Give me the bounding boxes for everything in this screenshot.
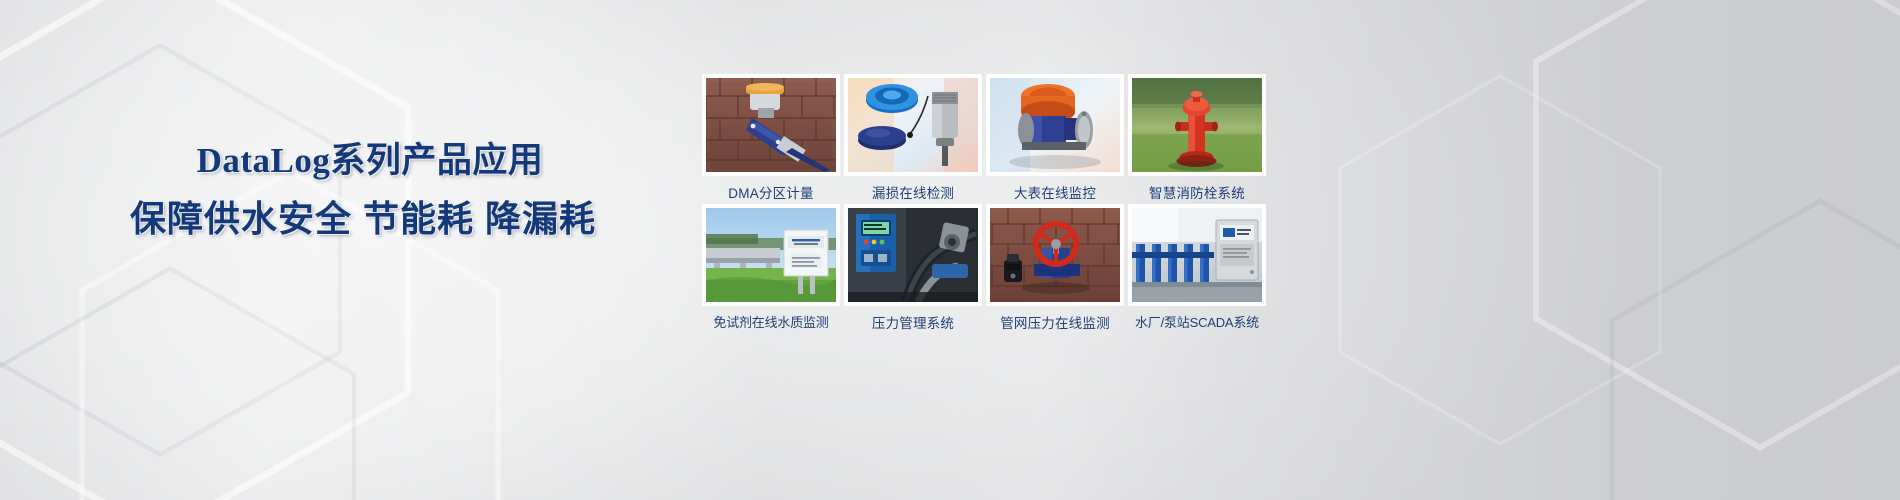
product-caption: 压力管理系统 xyxy=(845,312,981,332)
product-thumbnail[interactable] xyxy=(987,75,1123,175)
product-application-banner: DataLog系列产品应用 保障供水安全 节能耗 降漏耗 xyxy=(0,0,1900,500)
product-caption: 大表在线监控 xyxy=(987,182,1123,202)
product-thumbnail[interactable] xyxy=(845,205,981,305)
pipe-pressure-valve-photo xyxy=(990,208,1120,302)
product-card[interactable]: DMA分区计量 xyxy=(703,75,839,202)
product-thumbnail[interactable] xyxy=(1129,75,1265,175)
product-thumbnail[interactable] xyxy=(845,75,981,175)
product-thumbnail[interactable] xyxy=(1129,205,1265,305)
scada-pump-station-photo xyxy=(1132,208,1262,302)
large-water-meter-photo xyxy=(990,78,1120,172)
hexagon-icon xyxy=(1300,60,1700,460)
hexagon-icon xyxy=(1560,180,1900,500)
water-quality-station-photo xyxy=(706,208,836,302)
hexagon-icon xyxy=(1480,0,1900,470)
hexagon-icon xyxy=(0,0,470,500)
product-card[interactable]: 免试剂在线水质监测 xyxy=(703,205,839,332)
product-caption: 智慧消防栓系统 xyxy=(1129,182,1265,202)
smart-fire-hydrant-photo xyxy=(1132,78,1262,172)
product-card[interactable]: 管网压力在线监测 xyxy=(987,205,1123,332)
headline-line-1: DataLog系列产品应用 xyxy=(0,140,700,182)
headline-block: DataLog系列产品应用 保障供水安全 节能耗 降漏耗 xyxy=(0,140,700,241)
product-caption: 漏损在线检测 xyxy=(845,182,981,202)
headline-line-2: 保障供水安全 节能耗 降漏耗 xyxy=(0,197,700,241)
product-caption: 免试剂在线水质监测 xyxy=(703,312,839,331)
product-caption: 管网压力在线监测 xyxy=(987,312,1123,332)
leak-detection-sensor-photo xyxy=(848,78,978,172)
hexagon-icon xyxy=(0,250,400,500)
product-card[interactable]: 智慧消防栓系统 xyxy=(1129,75,1265,202)
product-grid: DMA分区计量 xyxy=(703,75,1265,332)
product-card[interactable]: 大表在线监控 xyxy=(987,75,1123,202)
product-card[interactable]: 水厂/泵站SCADA系统 xyxy=(1129,205,1265,332)
product-caption: DMA分区计量 xyxy=(703,182,839,202)
product-caption: 水厂/泵站SCADA系统 xyxy=(1129,312,1265,331)
product-card[interactable]: 压力管理系统 xyxy=(845,205,981,332)
product-thumbnail[interactable] xyxy=(987,205,1123,305)
pressure-management-photo xyxy=(848,208,978,302)
dma-flow-meter-photo xyxy=(706,78,836,172)
product-thumbnail[interactable] xyxy=(703,205,839,305)
product-card[interactable]: 漏损在线检测 xyxy=(845,75,981,202)
product-thumbnail[interactable] xyxy=(703,75,839,175)
